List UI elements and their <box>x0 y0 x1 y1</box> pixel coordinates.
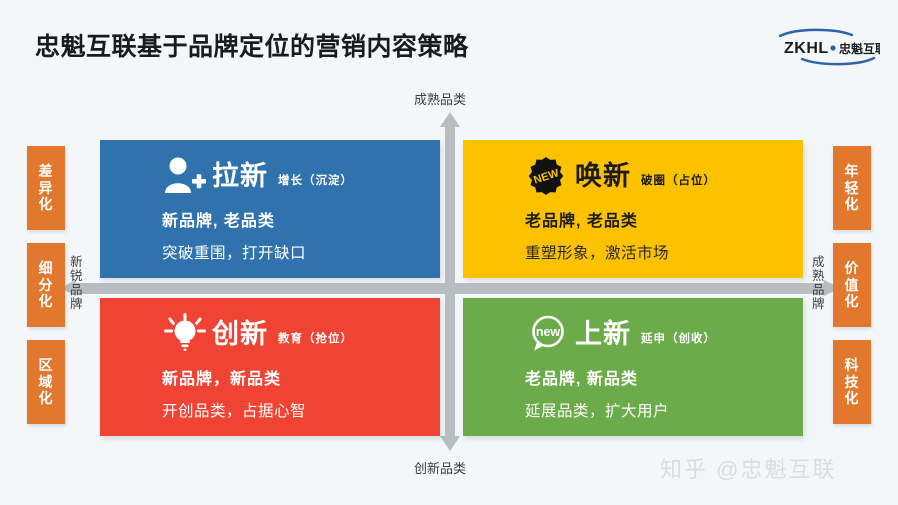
quadrant-title: 唤新 <box>575 163 631 190</box>
side-tag-label: 年轻化 <box>845 163 860 213</box>
quadrant-line-2: 延展品类，扩大用户 <box>525 399 803 421</box>
svg-text:ZKHL: ZKHL <box>784 40 829 57</box>
axis-top-label: 成熟品类 <box>414 89 466 108</box>
side-tag-left-regionalization[interactable]: 区域化 <box>27 340 65 424</box>
quadrant-card-green[interactable]: new 上新 延申（创收） 老品牌, 新品类 延展品类，扩大用户 <box>463 298 803 436</box>
quadrant-subtitle: 增长（沉淀） <box>278 172 353 188</box>
quadrant-subtitle: 破圈（占位） <box>641 172 716 188</box>
quadrant-line-2: 突破重围，打开缺口 <box>162 241 440 263</box>
svg-text:new: new <box>536 325 561 339</box>
watermark: 知乎 @忠魁互联 <box>660 452 836 484</box>
new-badge-icon: NEW <box>525 155 571 197</box>
arrow-up-icon <box>440 112 460 284</box>
quadrant-title: 创新 <box>212 321 268 348</box>
quadrant-title: 上新 <box>575 321 631 348</box>
lightbulb-icon <box>162 313 208 355</box>
quadrant-headline: new 上新 延申（创收） <box>525 312 803 356</box>
quadrant-card-red[interactable]: 创新 教育（抢位） 新品牌，新品类 开创品类，占据心智 <box>100 298 440 436</box>
axis-left-label: 新锐品牌 <box>70 255 86 311</box>
side-tag-right-value[interactable]: 价值化 <box>833 243 871 327</box>
quadrant-headline: 创新 教育（抢位） <box>162 312 440 356</box>
user-plus-icon <box>162 155 208 197</box>
quadrant-subtitle: 延申（创收） <box>641 330 716 346</box>
arrow-down-icon <box>440 293 460 451</box>
quadrant-headline: 拉新 增长（沉淀） <box>162 154 440 198</box>
side-tag-left-differentiation[interactable]: 差异化 <box>27 146 65 230</box>
side-tag-left-segmentation[interactable]: 细分化 <box>27 243 65 327</box>
brand-logo: ZKHL 忠魁互联 <box>774 27 880 67</box>
new-speech-bubble-icon: new <box>525 313 571 355</box>
side-tag-label: 区域化 <box>39 357 54 407</box>
horizontal-axis-arrow <box>60 283 840 294</box>
axis-bottom-label: 创新品类 <box>414 458 466 477</box>
quadrant-line-1: 新品牌, 老品类 <box>162 207 440 231</box>
svg-text:忠魁互联: 忠魁互联 <box>839 41 880 56</box>
quadrant-card-yellow[interactable]: NEW 唤新 破圈（占位） 老品牌, 老品类 重塑形象，激活市场 <box>463 140 803 278</box>
quadrant-line-1: 新品牌，新品类 <box>162 365 440 389</box>
quadrant-line-2: 重塑形象，激活市场 <box>525 241 803 263</box>
side-tag-label: 科技化 <box>845 357 860 407</box>
quadrant-card-blue[interactable]: 拉新 增长（沉淀） 新品牌, 老品类 突破重围，打开缺口 <box>100 140 440 278</box>
axis-right-label: 成熟品牌 <box>812 255 828 311</box>
quadrant-line-1: 老品牌, 新品类 <box>525 365 803 389</box>
quadrant-title: 拉新 <box>212 163 268 190</box>
page-title: 忠魁互联基于品牌定位的营销内容策略 <box>35 27 469 63</box>
side-tag-label: 差异化 <box>39 163 54 213</box>
quadrant-line-2: 开创品类，占据心智 <box>162 399 440 421</box>
side-tag-right-younger[interactable]: 年轻化 <box>833 146 871 230</box>
quadrant-headline: NEW 唤新 破圈（占位） <box>525 154 803 198</box>
side-tag-label: 价值化 <box>845 260 860 310</box>
slide-header: 忠魁互联基于品牌定位的营销内容策略 ZKHL 忠魁互联 <box>0 0 898 82</box>
quadrant-subtitle: 教育（抢位） <box>278 330 353 346</box>
side-tag-label: 细分化 <box>39 260 54 310</box>
marketing-strategy-matrix-slide: 忠魁互联基于品牌定位的营销内容策略 ZKHL 忠魁互联 成熟品类 创新品类 新锐… <box>0 0 898 505</box>
quadrant-line-1: 老品牌, 老品类 <box>525 207 803 231</box>
side-tag-right-technology[interactable]: 科技化 <box>833 340 871 424</box>
